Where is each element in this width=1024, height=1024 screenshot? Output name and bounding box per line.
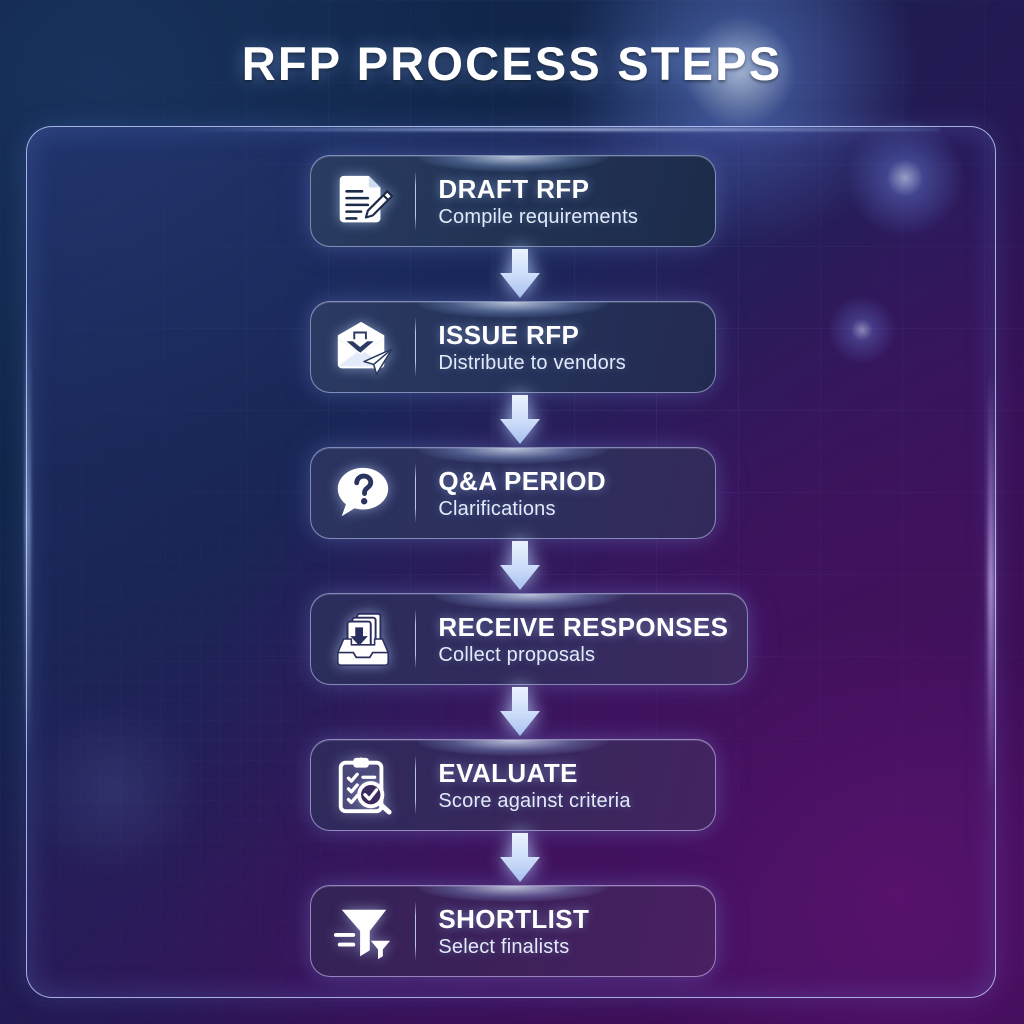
- step-1[interactable]: DRAFT RFP Compile requirements: [310, 155, 716, 247]
- arrow-5-to-6: [492, 833, 548, 885]
- envelope-send-icon: [311, 302, 415, 392]
- arrow-1-to-2: [492, 249, 548, 301]
- step-subtitle: Distribute to vendors: [438, 352, 626, 375]
- step-title: ISSUE RFP: [438, 320, 626, 351]
- document-pencil-icon: [311, 156, 415, 246]
- inbox-download-icon: [311, 594, 415, 684]
- step-subtitle: Clarifications: [438, 498, 606, 521]
- step-subtitle: Collect proposals: [438, 644, 728, 667]
- question-bubble-icon: [311, 448, 415, 538]
- arrow-3-to-4: [492, 541, 548, 593]
- process-steps-flow: DRAFT RFP Compile requirements: [0, 0, 1024, 1024]
- step-title: SHORTLIST: [438, 904, 589, 935]
- clipboard-search-icon: [311, 740, 415, 830]
- arrow-4-to-5: [492, 687, 548, 739]
- step-6[interactable]: SHORTLIST Select finalists: [310, 885, 716, 977]
- step-4[interactable]: RECEIVE RESPONSES Collect proposals: [310, 593, 748, 685]
- step-2[interactable]: ISSUE RFP Distribute to vendors: [310, 301, 716, 393]
- step-subtitle: Select finalists: [438, 936, 589, 959]
- step-subtitle: Score against criteria: [438, 790, 630, 813]
- step-title: RECEIVE RESPONSES: [438, 612, 728, 643]
- step-title: Q&A PERIOD: [438, 466, 606, 497]
- step-5[interactable]: EVALUATE Score against criteria: [310, 739, 716, 831]
- step-title: EVALUATE: [438, 758, 630, 789]
- arrow-2-to-3: [492, 395, 548, 447]
- step-title: DRAFT RFP: [438, 174, 638, 205]
- step-3[interactable]: Q&A PERIOD Clarifications: [310, 447, 716, 539]
- funnel-filter-icon: [311, 886, 415, 976]
- step-subtitle: Compile requirements: [438, 206, 638, 229]
